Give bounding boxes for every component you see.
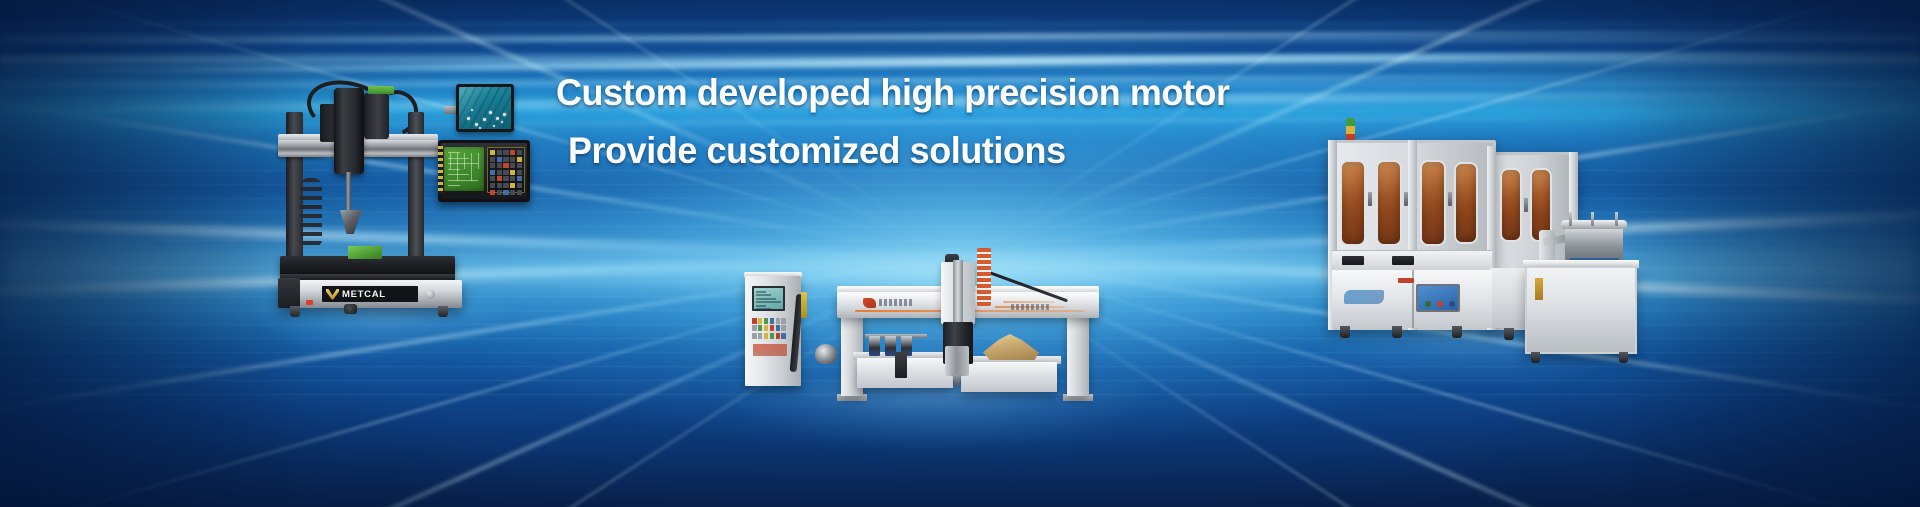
light-streak (0, 28, 1920, 46)
viewing-window (1454, 162, 1478, 244)
bridge-decal-text (1011, 304, 1051, 310)
bench-label (1535, 278, 1543, 300)
keypad-key (490, 190, 495, 195)
machine-foot (290, 306, 300, 317)
caster (1619, 352, 1628, 363)
cabinet-button (758, 325, 763, 331)
clamp (869, 336, 880, 356)
keypad-key (517, 183, 522, 188)
headline-block: Custom developed high precision motor Pr… (556, 74, 1250, 169)
door-handle[interactable] (1404, 192, 1408, 206)
solder-joint-dot (489, 111, 492, 114)
machine-caster (344, 304, 357, 314)
keypad-key (490, 183, 495, 188)
workpiece (983, 334, 1039, 360)
soldering-iron-shaft (346, 172, 351, 212)
cabinet-button (776, 318, 781, 324)
vibratory-bowl (1565, 224, 1623, 262)
bowl-post (1591, 212, 1594, 226)
keypad-key (517, 170, 522, 175)
hmi-knob[interactable] (1437, 301, 1443, 307)
stack-light (1346, 118, 1355, 142)
machine-cnc-router (745, 248, 1135, 408)
caster (1392, 326, 1402, 338)
hmi-text-line (756, 308, 771, 310)
solder-joint-dot (471, 109, 473, 111)
solder-joint-dot (496, 117, 499, 120)
spindle-body (945, 346, 969, 376)
cabinet-button-panel (752, 318, 786, 334)
glass-sheen (1378, 162, 1400, 244)
brand-logo-plate: METCAL (322, 286, 418, 302)
headline-line-1: Custom developed high precision motor (556, 74, 1230, 111)
keypad-key (497, 150, 502, 155)
solder-joint-dot (493, 125, 495, 127)
machine-bowl-feeder (1525, 208, 1645, 373)
monitor-side-strip (438, 146, 443, 194)
cabinet-button (781, 318, 786, 324)
pcb-trace (448, 163, 478, 164)
control-knob (426, 290, 435, 299)
keypad-key (497, 183, 502, 188)
solder-joint-dot (501, 121, 503, 123)
cabinet-button (776, 333, 781, 339)
cabinet-button (770, 333, 775, 339)
keypad-key (497, 170, 502, 175)
hmi-screen (752, 286, 785, 311)
cabinet-button (770, 318, 775, 324)
cabinet-button (764, 333, 769, 339)
control-keypad (487, 147, 525, 193)
keypad-key (497, 190, 502, 195)
viewing-window (1500, 168, 1522, 242)
keypad-key (497, 176, 502, 181)
keypad-key (503, 163, 508, 168)
hmi-text-line (756, 301, 781, 303)
cabinet-button (781, 325, 786, 331)
hmi-text-line (756, 294, 771, 296)
caster (1504, 328, 1514, 340)
bed-side-rail (895, 352, 907, 378)
cabinet-button (770, 325, 775, 331)
door-handle[interactable] (1368, 192, 1372, 206)
solder-wire-feeder (364, 93, 389, 139)
feeder-column (1539, 230, 1555, 264)
hero-banner: Custom developed high precision motor Pr… (0, 0, 1920, 507)
solder-joint-dot (475, 123, 478, 126)
caster (1340, 326, 1350, 338)
caster (1531, 352, 1540, 363)
viewing-window (1340, 160, 1366, 246)
keypad-key (503, 183, 508, 188)
keypad-key (503, 157, 508, 162)
power-indicator-led (306, 300, 313, 305)
machine-foot (438, 306, 448, 317)
z-axis-rail (953, 260, 963, 326)
keypad-key (503, 176, 508, 181)
keypad-key (490, 176, 495, 181)
keypad-key (490, 157, 495, 162)
monitor-top (456, 84, 514, 132)
brand-logo-text: METCAL (342, 289, 386, 300)
cabinet-button (758, 318, 763, 324)
keypad-key (510, 170, 515, 175)
keypad-key (490, 170, 495, 175)
keypad-key (510, 163, 515, 168)
work-table (280, 256, 455, 276)
viewing-window (1376, 160, 1402, 246)
cabinet-button (764, 325, 769, 331)
keypad-key (490, 163, 495, 168)
solder-head (334, 88, 364, 174)
keypad-key (503, 150, 508, 155)
cabinet-button (776, 325, 781, 331)
keypad-key (510, 190, 515, 195)
gantry-leg-right (1067, 310, 1089, 396)
cable-guard (801, 292, 807, 318)
solder-joint-dot (503, 113, 506, 116)
keypad-key (517, 150, 522, 155)
hmi-text-line (756, 298, 776, 300)
pcb-on-table (348, 246, 382, 259)
cabinet-button (752, 318, 757, 324)
caster (1452, 326, 1462, 338)
keypad-key (503, 170, 508, 175)
keypad-key (517, 176, 522, 181)
door-handle[interactable] (1448, 192, 1452, 206)
coiled-cable (300, 178, 322, 248)
cell-brand-decal (1344, 290, 1384, 304)
bridge-decal-text (879, 299, 913, 306)
viewing-window (1420, 160, 1446, 246)
keypad-key (510, 176, 515, 181)
cabinet-button (758, 333, 763, 339)
keypad-key (497, 157, 502, 162)
cabinet-button (764, 318, 769, 324)
keypad-key (497, 163, 502, 168)
keypad-key (517, 190, 522, 195)
cabinet-button (752, 325, 757, 331)
glass-sheen (1422, 162, 1444, 244)
keypad-key (510, 150, 515, 155)
pcb-trace (448, 185, 460, 186)
keypad-key (517, 157, 522, 162)
pcb-trace (464, 153, 465, 169)
hmi-knob[interactable] (1425, 301, 1431, 307)
metcal-m-chevron-icon (326, 289, 339, 300)
keypad-key (510, 157, 515, 162)
warning-label (1398, 278, 1414, 283)
hmi-knob[interactable] (1449, 301, 1455, 307)
rotary-axis-head (815, 344, 837, 364)
glass-sheen (1502, 170, 1520, 240)
bowl-post (1615, 212, 1618, 226)
keypad-key (490, 150, 495, 155)
pcb-trace (471, 153, 472, 181)
cabinet-button (781, 333, 786, 339)
work-bed (961, 362, 1057, 392)
bowl-post (1569, 212, 1572, 226)
pcb-trace (450, 153, 451, 169)
pcb-trace (448, 174, 469, 175)
keypad-key (517, 163, 522, 168)
glass-sheen (1342, 162, 1364, 244)
cabinet-button (752, 333, 757, 339)
vent-grille (1392, 256, 1414, 265)
monitor-bottom (438, 140, 530, 202)
hmi-text-line (756, 305, 766, 307)
green-pcb-module (368, 86, 394, 94)
hmi-text-line (756, 291, 766, 293)
keypad-key (510, 183, 515, 188)
monitor-screen (459, 87, 511, 129)
solder-joint-dot (483, 118, 486, 121)
keypad-key (503, 190, 508, 195)
headline-line-2: Provide customized solutions (568, 132, 1230, 169)
pcb-trace (448, 180, 478, 181)
machine-base-side (278, 278, 300, 308)
pcb-graphic (444, 147, 484, 191)
hmi-touch-panel[interactable] (1416, 284, 1460, 312)
cabinet-brand-decal (753, 344, 787, 356)
energy-chain (977, 248, 991, 306)
solder-joint-dot (467, 117, 470, 120)
pcb-trace (457, 153, 458, 181)
solder-joint-dot (479, 127, 481, 129)
pcb-trace (478, 153, 479, 169)
bridge-brand-decal (863, 298, 876, 308)
soldering-tip (340, 210, 362, 234)
vent-grille (1342, 256, 1364, 265)
glass-sheen (1456, 164, 1476, 242)
